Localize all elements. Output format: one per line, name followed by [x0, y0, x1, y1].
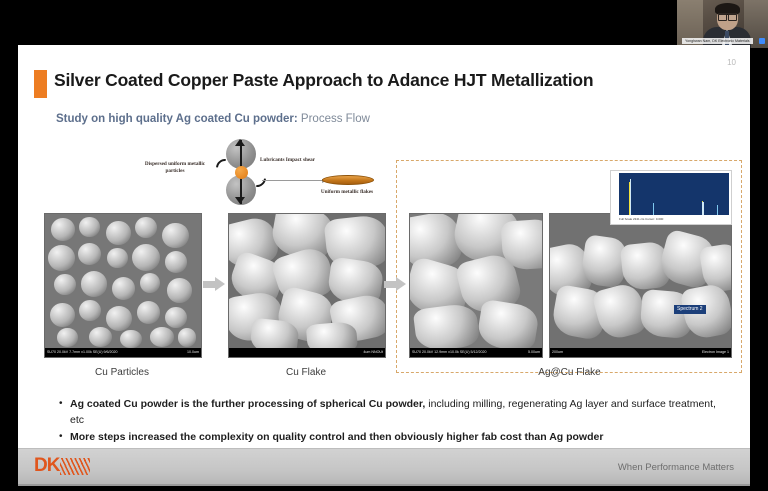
slide-title: Silver Coated Copper Paste Approach to A…	[54, 70, 593, 91]
sem-image-cu-particles: SU70 20.0kV 7.7mm x1.00k SE(U) 9/6/2020 …	[44, 213, 202, 358]
metallic-flake-icon	[322, 175, 374, 185]
sem-scale-bar-label: 4um NNOUt	[363, 348, 383, 357]
impact-arrow-down-icon	[235, 197, 245, 204]
webcam-person-glasses	[718, 13, 737, 19]
eds-axis-label: Full Scale 2341 cts Cursor: 0.000	[619, 216, 729, 223]
flow-label-left: Dispersed uniform metallic particles	[140, 161, 210, 175]
webcam-participant-name: Yonghwan Nam, DK Electronic Materials	[682, 38, 753, 44]
impact-arrow-up-icon	[235, 139, 245, 146]
spectrum-marker-label: Spectrum 2	[674, 305, 706, 314]
caption-cu-particles: Cu Particles	[44, 367, 200, 378]
sem-image-agcu-flake-detail: SU70 20.0kV 12.9mm x10.0k SE(U) 5/12/202…	[409, 213, 543, 358]
flow-label-mid: Lubricants Impact shear	[260, 157, 320, 164]
cu-particle-grains	[45, 214, 201, 357]
slide-footer: DK When Performance Matters	[18, 448, 750, 486]
slide-page-number: 10	[727, 58, 736, 67]
eds-spectrum-chart: Full Scale 2341 cts Cursor: 0.000	[610, 170, 732, 225]
bullet-2-bold: More steps increased the complexity on q…	[70, 431, 603, 443]
eds-plot-area	[619, 173, 729, 215]
process-arrow-2-icon	[384, 277, 406, 291]
process-flow-diagram: Dispersed uniform metallic particles Lub…	[140, 139, 370, 207]
sem-scale-bar-label: 10.0um	[187, 348, 199, 357]
caption-agcu-flake: Ag@Cu Flake	[409, 367, 730, 378]
webcam-video-tile[interactable]: Yonghwan Nam, DK Electronic Materials	[677, 0, 768, 48]
sem-metadata-right: Electron Image 1	[702, 348, 729, 357]
logo-text: DK	[34, 455, 59, 477]
slide-bullet-list: Ag coated Cu powder is the further proce…	[58, 397, 718, 448]
company-logo: DK	[34, 455, 90, 477]
sem-metadata-bar: 200um Electron Image 1	[550, 348, 731, 357]
presentation-slide: 10 Silver Coated Copper Paste Approach t…	[18, 45, 750, 486]
logo-hatch-mark-icon	[60, 458, 90, 475]
microphone-icon[interactable]	[759, 38, 765, 44]
process-arrow-1-icon	[203, 277, 225, 291]
footer-rule	[18, 484, 750, 486]
sem-scale-bar-label: 5.00um	[528, 348, 540, 357]
sem-metadata-bar: SU70 20.0kV 12.9mm x10.0k SE(U) 5/12/202…	[410, 348, 542, 357]
sem-metadata-bar: 4um NNOUt	[229, 348, 385, 357]
sem-image-cu-flake: 4um NNOUt	[228, 213, 386, 358]
sem-image-electron-image: 200um Electron Image 1	[549, 213, 732, 358]
screen: Yonghwan Nam, DK Electronic Materials 10…	[0, 0, 768, 491]
sem-metadata-left: SU70 20.0kV 7.7mm x1.00k SE(U) 9/6/2020	[47, 348, 118, 357]
slide-subtitle: Study on high quality Ag coated Cu powde…	[56, 113, 370, 125]
flow-transition-arrow-icon	[262, 180, 322, 181]
sem-metadata-left: SU70 20.0kV 12.9mm x10.0k SE(U) 5/12/202…	[412, 348, 487, 357]
bullet-item-1: Ag coated Cu powder is the further proce…	[58, 397, 718, 428]
metallic-particle-icon	[235, 166, 248, 179]
bullet-1-bold: Ag coated Cu powder is the further proce…	[70, 398, 425, 410]
footer-tagline: When Performance Matters	[618, 462, 734, 473]
bullet-item-2: More steps increased the complexity on q…	[58, 430, 718, 446]
flow-label-right: Uniform metallic flakes	[318, 189, 376, 196]
sem-metadata-bar: SU70 20.0kV 7.7mm x1.00k SE(U) 9/6/2020 …	[45, 348, 201, 357]
caption-cu-flake: Cu Flake	[228, 367, 384, 378]
slide-subtitle-normal: Process Flow	[301, 113, 370, 125]
sem-scale-bar-label: 200um	[552, 348, 563, 357]
slide-subtitle-bold: Study on high quality Ag coated Cu powde…	[56, 113, 298, 125]
title-accent-bar	[34, 70, 47, 98]
